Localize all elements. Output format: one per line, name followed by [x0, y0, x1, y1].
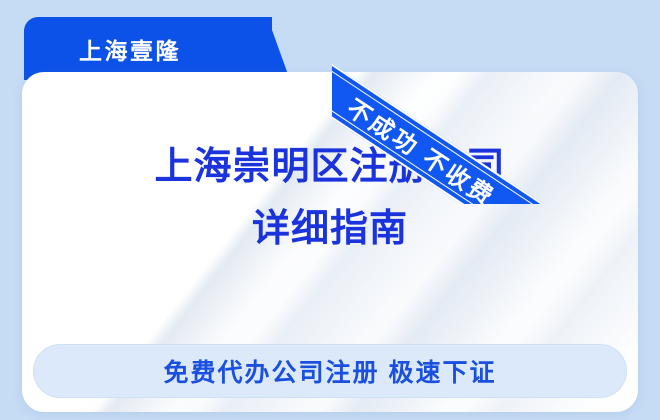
content-card: 上海崇明区注册公司 详细指南 免费代办公司注册 极速下证 — [22, 72, 638, 412]
headline-line-1: 上海崇明区注册公司 — [154, 146, 505, 188]
headline-line-2: 详细指南 — [22, 210, 638, 248]
brand-tab-label: 上海壹隆 — [24, 17, 272, 80]
promo-poster: 上海壹隆 上海崇明区注册公司 详细指南 免费代办公司注册 极速下证 不成功 不收… — [0, 0, 660, 420]
footer-pill-label: 免费代办公司注册 极速下证 — [33, 344, 627, 398]
page-title: 上海崇明区注册公司 详细指南 — [22, 148, 638, 248]
